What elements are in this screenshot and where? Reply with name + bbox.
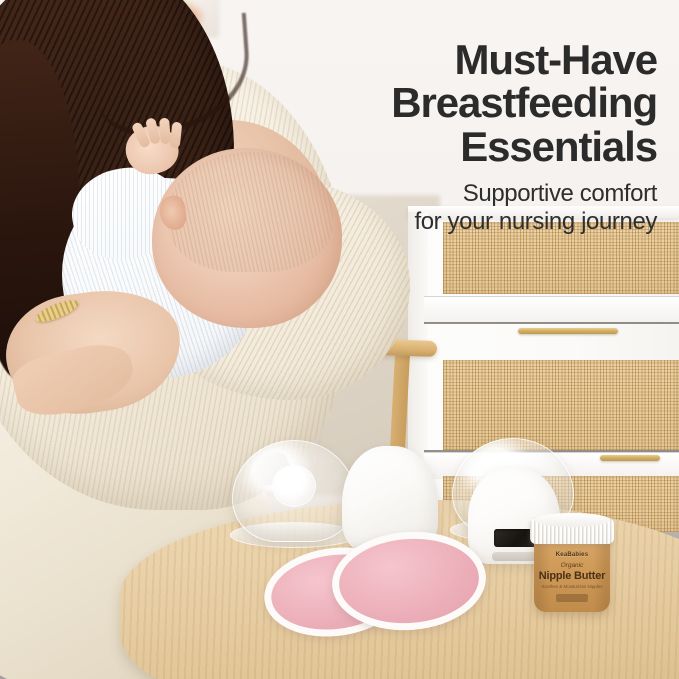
headline-line-1: Must-Have <box>227 38 657 81</box>
jar-product-name: Nipple Butter <box>530 570 614 582</box>
jar-badge <box>556 594 588 602</box>
breast-shield-valve <box>272 465 316 507</box>
headline-line-2: Breastfeeding <box>227 81 657 124</box>
marketing-banner: KeaBabies Organic Nipple Butter Soothes … <box>0 0 679 679</box>
jar-descriptor-text: Organic <box>534 562 610 569</box>
jar-lid-top <box>534 513 610 527</box>
page-subtitle: Supportive comfort for your nursing jour… <box>227 180 657 237</box>
pump-brand-plate <box>492 552 540 561</box>
dresser-drawer-rail <box>424 296 679 323</box>
baby-finger <box>159 118 171 145</box>
subhead-line-1: Supportive comfort <box>227 180 657 208</box>
jar-brand-text: KeaBabies <box>534 552 610 558</box>
dresser-handle <box>600 455 660 461</box>
dresser-handle <box>518 328 618 334</box>
dresser-drawer-gap <box>424 322 679 324</box>
jar-sub-text: Soothes & Moisturizes Nipples <box>534 584 610 589</box>
banner-copy: Must-Have Breastfeeding Essentials Suppo… <box>227 38 657 236</box>
subhead-line-2: for your nursing journey <box>227 208 657 236</box>
headline-line-3: Essentials <box>227 125 657 168</box>
page-title: Must-Have Breastfeeding Essentials <box>227 38 657 168</box>
rattan-panel <box>443 360 679 450</box>
